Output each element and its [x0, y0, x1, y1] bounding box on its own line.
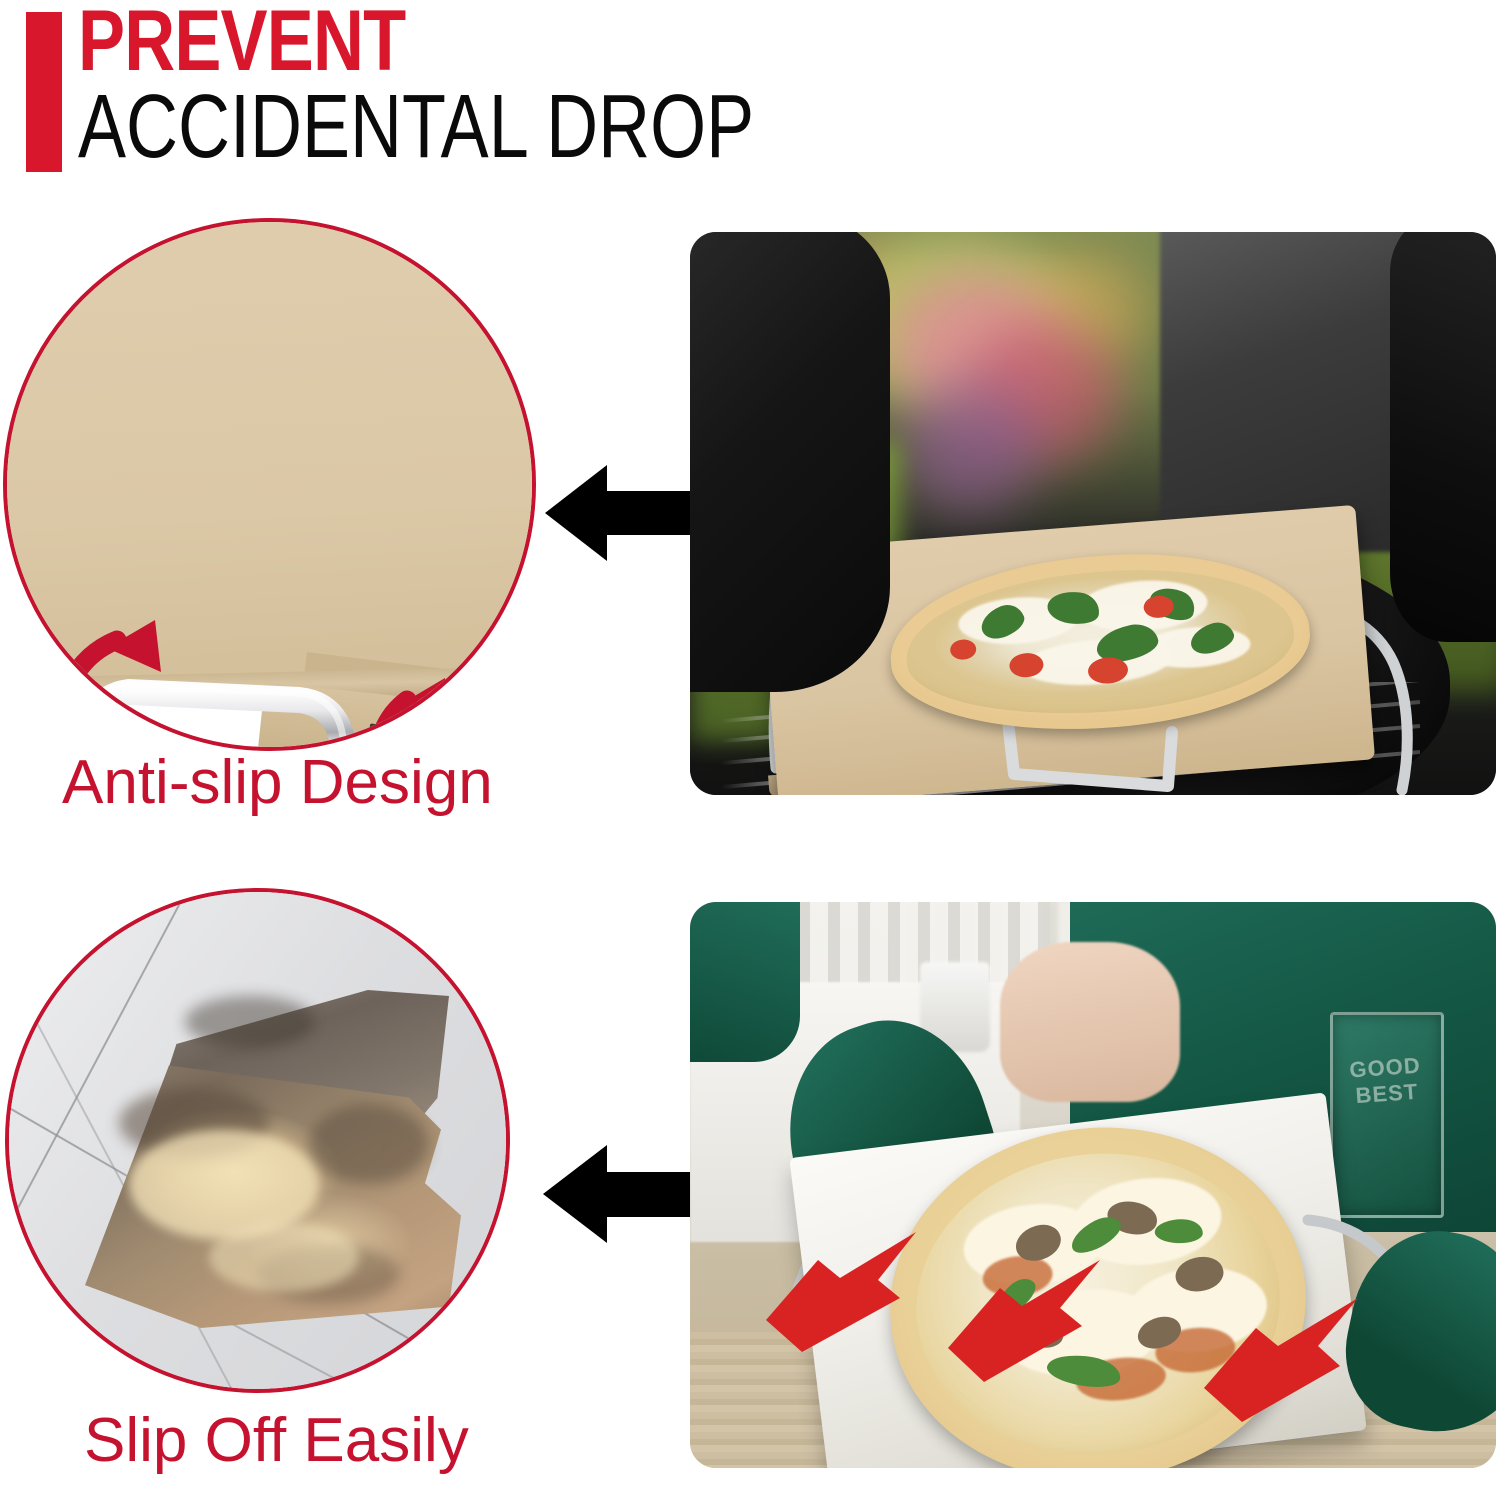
callout-label-slip-off: Slip Off Easily: [84, 1410, 469, 1472]
grey-apron: [1160, 232, 1420, 552]
header-accent-bar: [26, 12, 62, 172]
green-apron-corner: [690, 902, 800, 1062]
arrow-down-left-icon: [750, 1224, 918, 1360]
callout-label-anti-slip: Anti-slip Design: [62, 752, 493, 814]
flour-residue: [209, 1222, 359, 1292]
photo-grill: [690, 232, 1496, 795]
black-grill-glove-left: [690, 232, 890, 692]
header: PREVENT ACCIDENTAL DROP: [0, 0, 1500, 200]
arrow-left-icon: [545, 463, 705, 563]
green-pepper-slice: [1154, 1218, 1203, 1244]
arrow-down-left-icon: [1190, 1288, 1360, 1430]
black-grill-glove-right: [1390, 232, 1496, 642]
apron-badge-text: GOOD BEST: [1337, 1052, 1434, 1110]
scorch-mark: [309, 1104, 429, 1184]
infographic-stage: PREVENT ACCIDENTAL DROP: [0, 0, 1500, 1491]
arrow-left-icon: [543, 1143, 708, 1245]
callout-circle-anti-slip: [3, 218, 536, 751]
arrow-curved-up-left-icon: [43, 614, 173, 751]
header-line-1: PREVENT: [78, 0, 405, 84]
arrow-curved-up-right-icon: [337, 674, 467, 751]
apron-badge: GOOD BEST: [1330, 1012, 1444, 1218]
header-line-2: ACCIDENTAL DROP: [78, 82, 754, 172]
photo-table: GOOD BEST: [690, 902, 1496, 1468]
scorch-mark: [185, 996, 315, 1048]
forearm: [1000, 942, 1180, 1102]
anti-slip-illustration: [7, 222, 532, 747]
bokeh-blur: [900, 382, 1040, 512]
arrow-down-left-icon: [934, 1250, 1102, 1390]
callout-circle-slip-off: [5, 888, 510, 1393]
